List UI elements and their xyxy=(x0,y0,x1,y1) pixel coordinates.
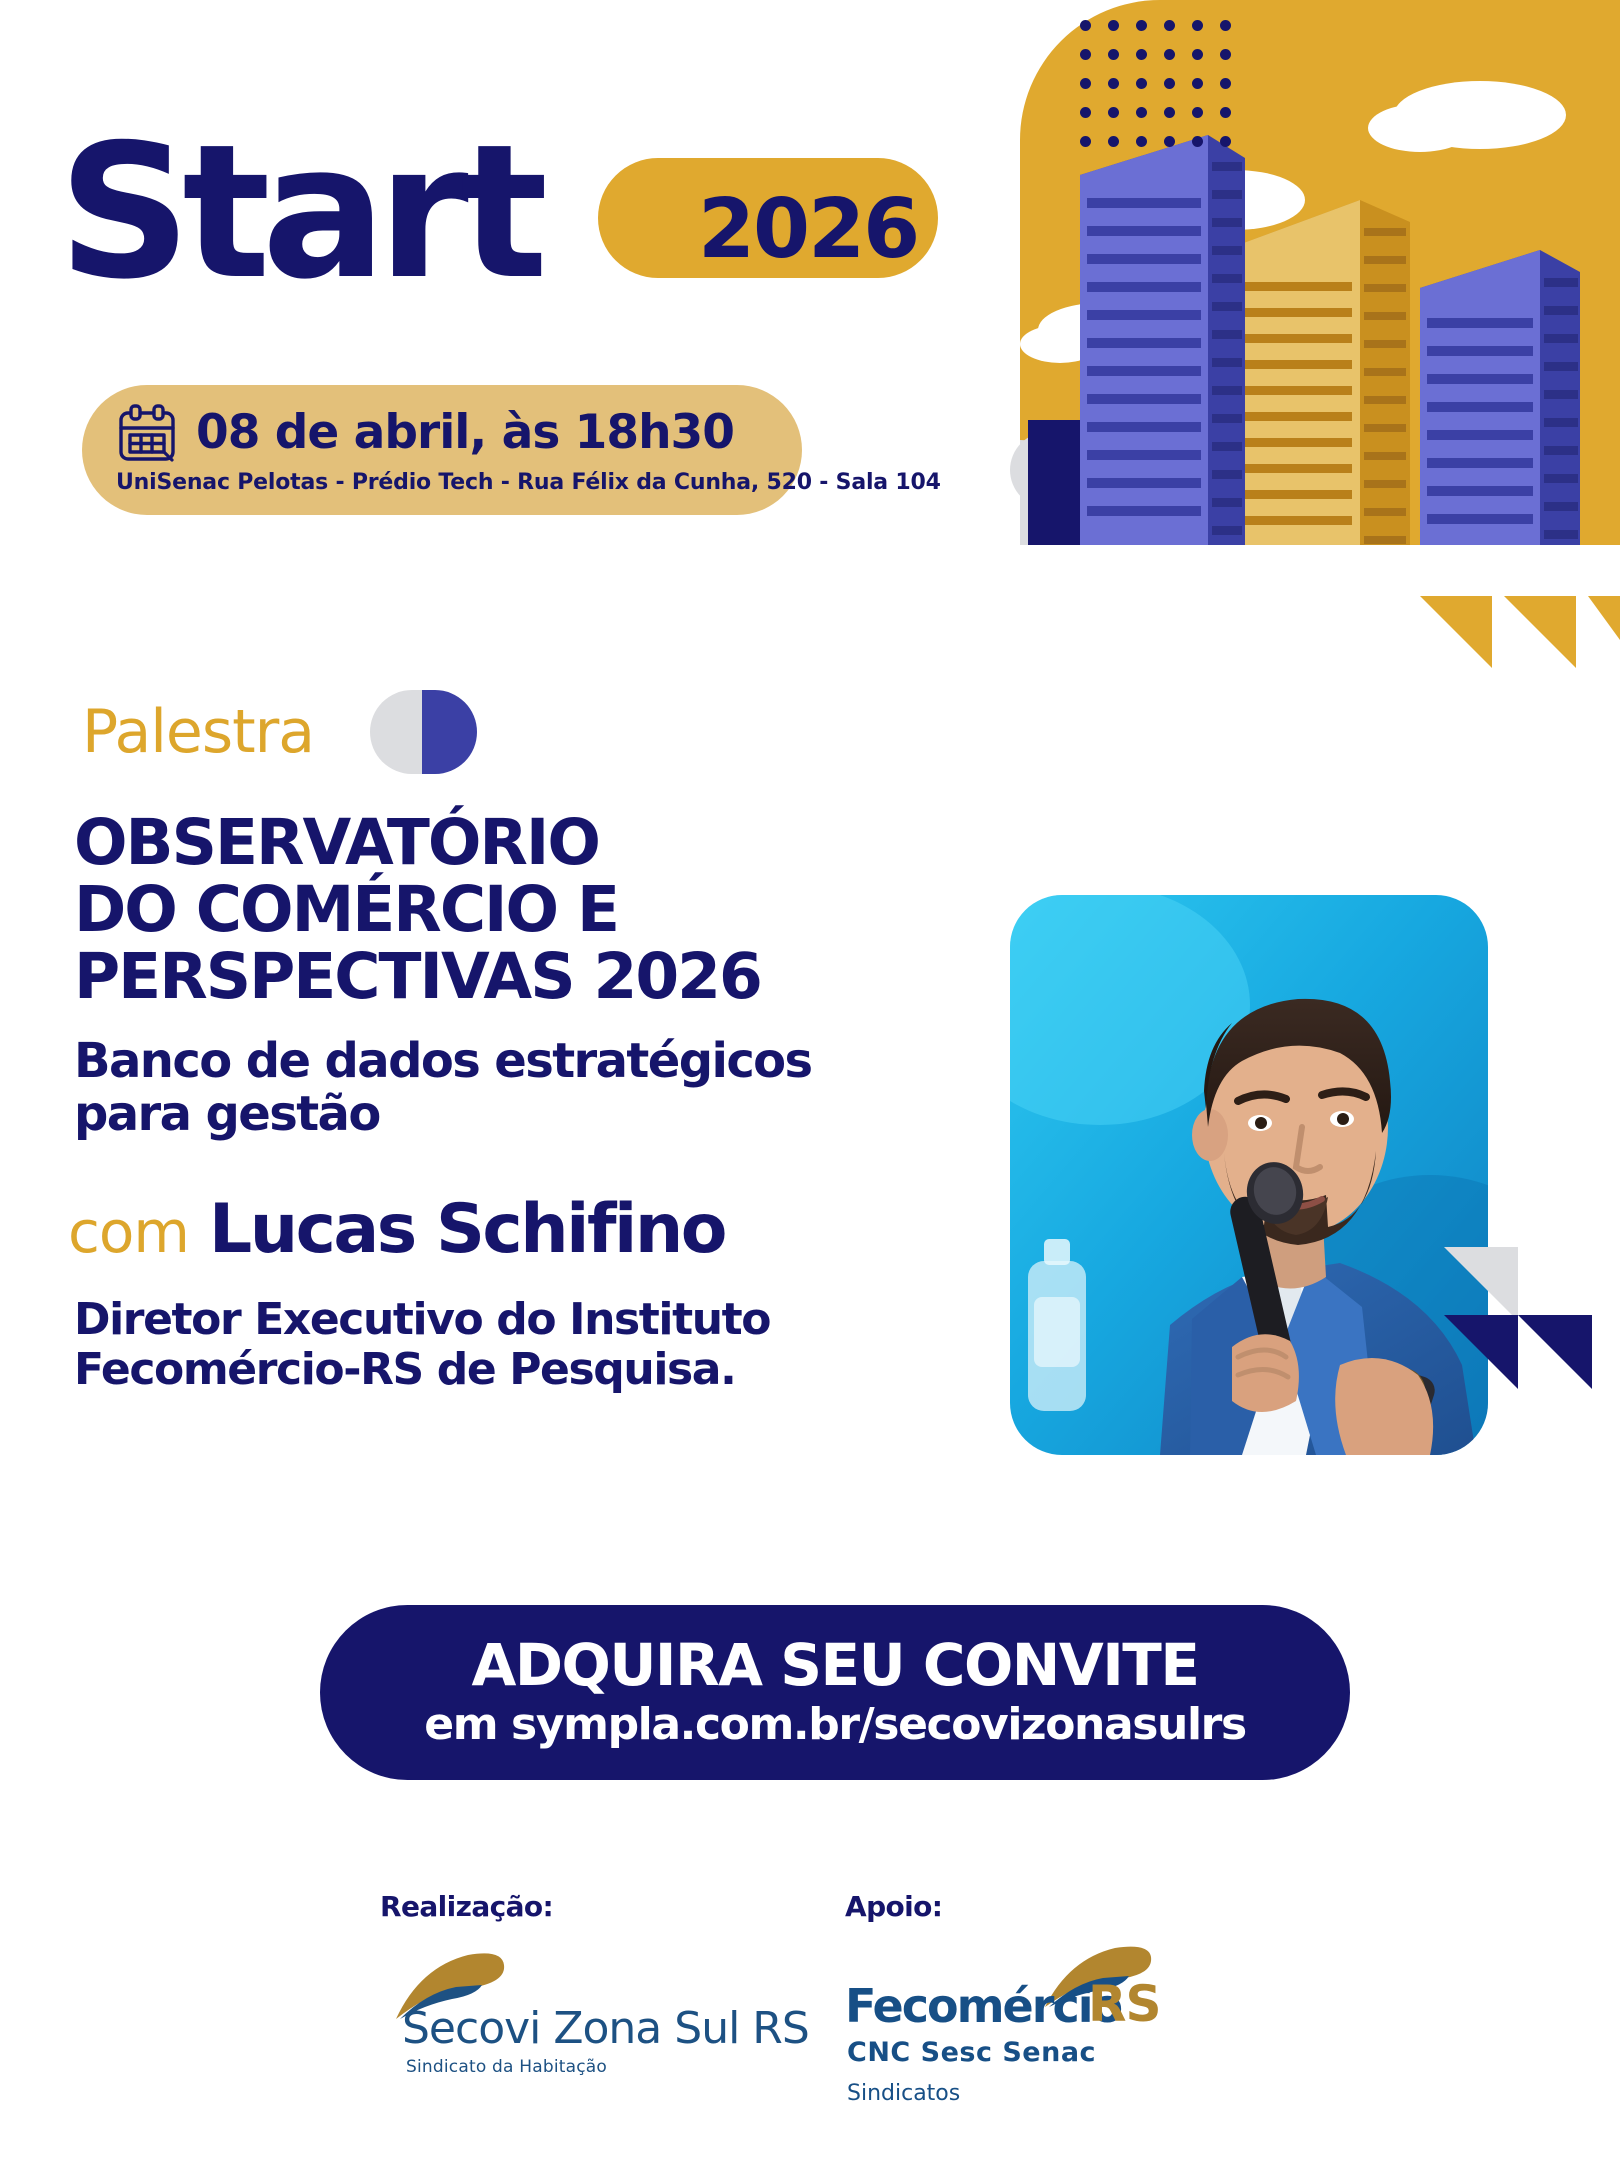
dot-icon xyxy=(1136,136,1147,147)
session-title-line-1: OBSERVATÓRIO xyxy=(74,810,954,877)
event-address-text: UniSenac Pelotas - Prédio Tech - Rua Fél… xyxy=(82,470,802,495)
dot-icon xyxy=(1136,20,1147,31)
dot-icon xyxy=(1108,78,1119,89)
apoio-label: Apoio: xyxy=(845,1890,1185,1923)
dot-grid-decoration xyxy=(1080,20,1240,150)
dot-icon xyxy=(1080,78,1091,89)
dot-icon xyxy=(1108,49,1119,60)
session-subtitle-line-1: Banco de dados estratégicos xyxy=(74,1035,954,1088)
dot-icon xyxy=(1136,78,1147,89)
calendar-icon xyxy=(116,402,178,464)
dot-icon xyxy=(1220,49,1231,60)
secovi-name: Secovi Zona Sul RS xyxy=(402,2003,809,2054)
session-title-line-3: PERSPECTIVAS 2026 xyxy=(74,944,954,1011)
buy-ticket-button[interactable]: ADQUIRA SEU CONVITE em sympla.com.br/sec… xyxy=(320,1605,1350,1780)
speaker-prefix: com xyxy=(68,1198,189,1266)
event-poster: Start 2026 08 de abril, às 18h30 Un xyxy=(0,0,1620,2160)
dot-icon xyxy=(1220,20,1231,31)
session-kicker: Palestra xyxy=(82,697,314,767)
realizacao-label: Realização: xyxy=(380,1890,770,1923)
fecomercio-state: RS xyxy=(1088,1975,1161,2033)
dot-icon xyxy=(1108,136,1119,147)
footer: Realização: Secovi Zona Sul RS Sindicato… xyxy=(0,1890,1620,2160)
session-title: OBSERVATÓRIO DO COMÉRCIO E PERSPECTIVAS … xyxy=(74,810,954,1010)
session-title-line-2: DO COMÉRCIO E xyxy=(74,877,954,944)
dot-icon xyxy=(1080,136,1091,147)
dot-icon xyxy=(1164,78,1175,89)
speaker-photo xyxy=(1010,895,1488,1455)
dot-icon xyxy=(1192,78,1203,89)
session-subtitle: Banco de dados estratégicos para gestão xyxy=(74,1035,954,1141)
start-logo: Start 2026 xyxy=(58,120,898,310)
secovi-tagline: Sindicato da Habitação xyxy=(406,2057,607,2077)
speaker-name: Lucas Schifino xyxy=(209,1190,725,1269)
dot-icon xyxy=(1164,49,1175,60)
speaker-photo-block xyxy=(1010,895,1510,1490)
dot-icon xyxy=(1164,107,1175,118)
dot-icon xyxy=(1192,49,1203,60)
logo-wordmark: Start xyxy=(58,120,539,305)
event-date-pill: 08 de abril, às 18h30 UniSenac Pelotas -… xyxy=(82,385,802,515)
dot-icon xyxy=(1192,136,1203,147)
speaker-role-line-2: Fecomércio-RS de Pesquisa. xyxy=(74,1345,874,1395)
city-skyline-illustration xyxy=(980,0,1620,830)
apoio-column: Apoio: Fecomércio RS CNC Sesc Senac Sind… xyxy=(845,1890,1185,2115)
dot-icon xyxy=(1136,49,1147,60)
fecomercio-brands: CNC Sesc Senac xyxy=(847,2037,1096,2068)
dot-icon xyxy=(1220,136,1231,147)
speaker-name-row: com Lucas Schifino xyxy=(68,1190,725,1269)
dot-icon xyxy=(1080,107,1091,118)
fecomercio-logo: Fecomércio RS CNC Sesc Senac Sindicatos xyxy=(845,1965,1185,2115)
secovi-logo: Secovi Zona Sul RS Sindicato da Habitaçã… xyxy=(380,1965,770,2085)
fecomercio-name: Fecomércio xyxy=(845,1979,1121,2033)
dot-icon xyxy=(1136,107,1147,118)
dot-icon xyxy=(1192,20,1203,31)
dot-icon xyxy=(1164,136,1175,147)
dot-icon xyxy=(1192,107,1203,118)
dot-icon xyxy=(1108,107,1119,118)
dot-icon xyxy=(1080,20,1091,31)
dot-icon xyxy=(1080,49,1091,60)
cta-main-label: ADQUIRA SEU CONVITE xyxy=(471,1635,1198,1696)
realizacao-column: Realização: Secovi Zona Sul RS Sindicato… xyxy=(380,1890,770,2085)
cta-sub-label: em sympla.com.br/secovizonasulrs xyxy=(424,1699,1246,1750)
triangle-grey-icon xyxy=(1444,1247,1518,1321)
session-subtitle-line-2: para gestão xyxy=(74,1088,954,1141)
triangle-navy-2-icon xyxy=(1518,1315,1592,1389)
speaker-role-line-1: Diretor Executivo do Instituto xyxy=(74,1295,874,1345)
dot-icon xyxy=(1108,20,1119,31)
session-kicker-row: Palestra xyxy=(82,690,480,774)
fecomercio-tagline: Sindicatos xyxy=(847,2081,960,2106)
half-circle-grey-icon xyxy=(370,690,425,774)
dot-icon xyxy=(1164,20,1175,31)
logo-year-text: 2026 xyxy=(698,182,918,277)
half-circles-decoration xyxy=(370,690,480,774)
triangle-navy-1-icon xyxy=(1444,1315,1518,1389)
dot-icon xyxy=(1220,78,1231,89)
speaker-role: Diretor Executivo do Instituto Fecomérci… xyxy=(74,1295,874,1395)
event-date-text: 08 de abril, às 18h30 xyxy=(196,405,734,460)
dot-icon xyxy=(1220,107,1231,118)
half-circle-blue-icon xyxy=(422,690,477,774)
